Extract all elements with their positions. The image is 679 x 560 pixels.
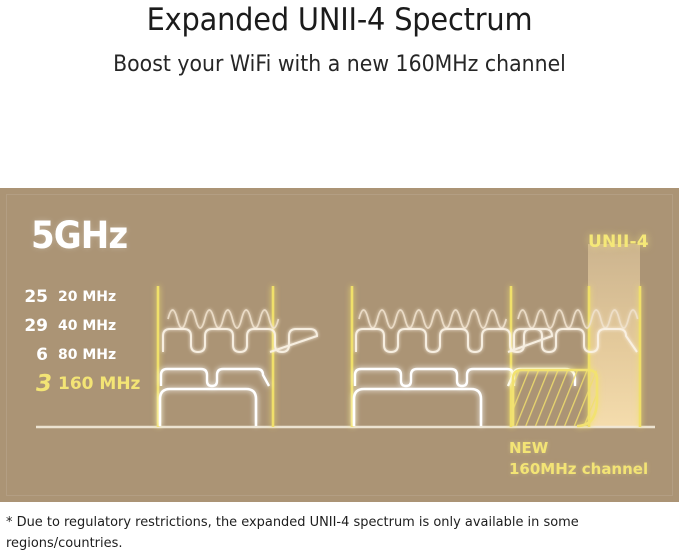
page-header: Expanded UNII-4 Spectrum Boost your WiFi…	[0, 0, 679, 79]
callout-line-channel: 160MHz channel	[509, 459, 648, 480]
legend-width-160mhz: 160 MHz	[58, 374, 140, 394]
row-160mhz-waveform-white	[160, 389, 481, 426]
legend-width-40mhz: 40 MHz	[58, 318, 116, 334]
legend-count-40mhz: 29	[0, 316, 58, 336]
row-40mhz-waveform	[163, 329, 637, 352]
band-label: 5GHz	[31, 214, 127, 257]
legend-count-80mhz: 6	[0, 345, 58, 365]
legend-count-20mhz: 25	[0, 287, 58, 307]
legend-row-160mhz: 3 160 MHz	[0, 369, 160, 398]
page-title: Expanded UNII-4 Spectrum	[24, 0, 655, 39]
spectrum-diagram-panel: 5GHz UNII-4 25 20 MHz 29 40 MHz 6 80 MHz…	[0, 188, 679, 502]
legend-row-40mhz: 29 40 MHz	[0, 311, 160, 340]
channel-width-legend: 25 20 MHz 29 40 MHz 6 80 MHz 3 160 MHz	[0, 282, 160, 398]
page-subtitle: Boost your WiFi with a new 160MHz channe…	[24, 39, 655, 79]
legend-width-20mhz: 20 MHz	[58, 289, 116, 305]
legend-width-80mhz: 80 MHz	[58, 347, 116, 363]
new-channel-callout: NEW 160MHz channel	[509, 438, 648, 480]
callout-line-new: NEW	[509, 438, 648, 459]
row-20mhz-waveform	[168, 310, 638, 328]
legend-row-80mhz: 6 80 MHz	[0, 340, 160, 369]
row-160mhz-new-channel	[505, 363, 605, 433]
legend-count-160mhz: 3	[0, 371, 58, 397]
regulatory-footnote: * Due to regulatory restrictions, the ex…	[6, 512, 640, 554]
unii4-label: UNII-4	[588, 232, 649, 252]
legend-row-20mhz: 25 20 MHz	[0, 282, 160, 311]
